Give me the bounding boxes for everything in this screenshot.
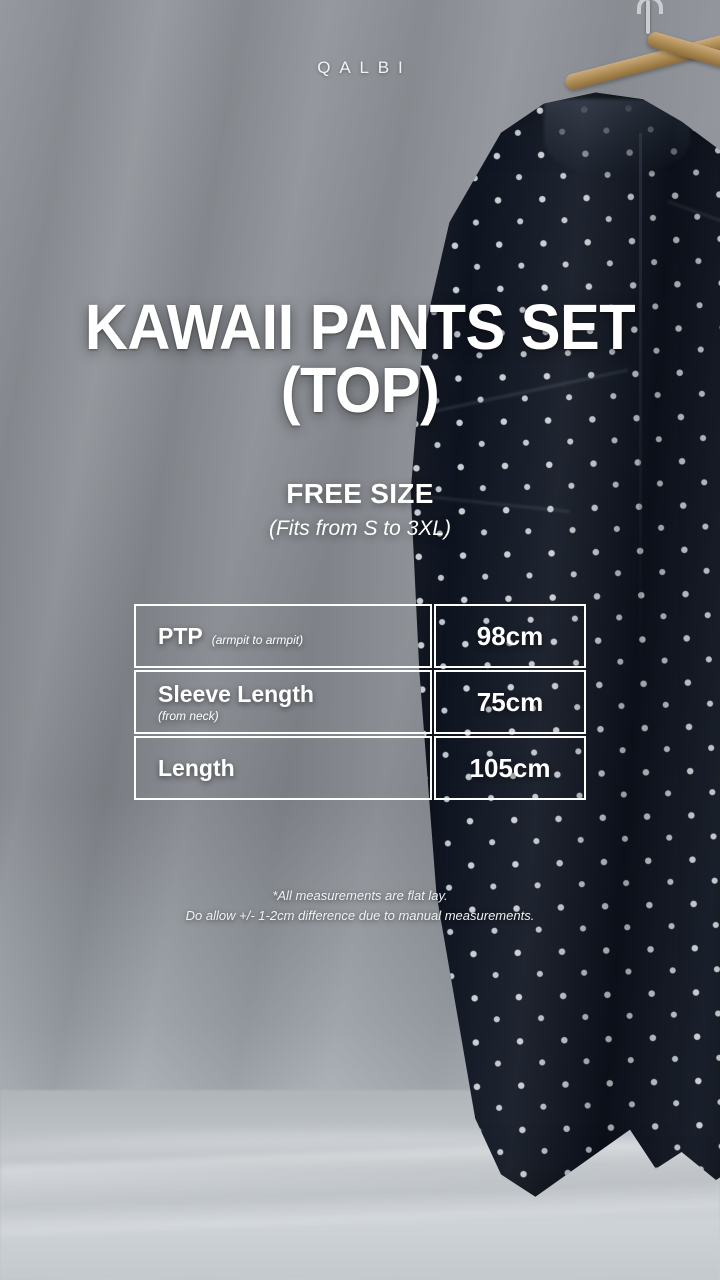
free-size-label: FREE SIZE bbox=[0, 478, 720, 510]
measurement-label-cell: PTP (armpit to armpit) bbox=[134, 604, 432, 668]
table-row: PTP (armpit to armpit) 98cm bbox=[134, 604, 586, 668]
measurement-name: Length bbox=[158, 755, 235, 782]
measurement-value: 75cm bbox=[434, 670, 586, 734]
hanger-hook-icon bbox=[646, 0, 650, 34]
disclaimer-line-2: Do allow +/- 1-2cm difference due to man… bbox=[0, 906, 720, 926]
measurement-note: (armpit to armpit) bbox=[212, 633, 303, 647]
measurement-value: 98cm bbox=[434, 604, 586, 668]
size-summary: FREE SIZE (Fits from S to 3XL) bbox=[0, 478, 720, 541]
page-title-line-1: KAWAII PANTS SET bbox=[85, 291, 635, 363]
table-row: Length 105cm bbox=[134, 736, 586, 800]
measurement-name: PTP bbox=[158, 623, 203, 650]
measurement-note: (from neck) bbox=[158, 709, 408, 723]
measurement-value: 105cm bbox=[434, 736, 586, 800]
disclaimer-note: *All measurements are flat lay. Do allow… bbox=[0, 886, 720, 926]
page-title-line-2: (TOP) bbox=[38, 359, 682, 422]
size-chart-graphic: QALBI KAWAII PANTS SET (TOP) FREE SIZE (… bbox=[0, 0, 720, 1280]
page-title: KAWAII PANTS SET (TOP) bbox=[25, 296, 695, 423]
measurement-name: Sleeve Length bbox=[158, 681, 408, 708]
size-range-label: (Fits from S to 3XL) bbox=[0, 517, 720, 541]
brand-logo: QALBI bbox=[0, 58, 720, 78]
table-row: Sleeve Length (from neck) 75cm bbox=[134, 670, 586, 734]
measurement-label-cell: Sleeve Length (from neck) bbox=[134, 670, 432, 734]
disclaimer-line-1: *All measurements are flat lay. bbox=[0, 886, 720, 906]
measurement-label-cell: Length bbox=[134, 736, 432, 800]
measurement-table: PTP (armpit to armpit) 98cm Sleeve Lengt… bbox=[134, 604, 586, 800]
